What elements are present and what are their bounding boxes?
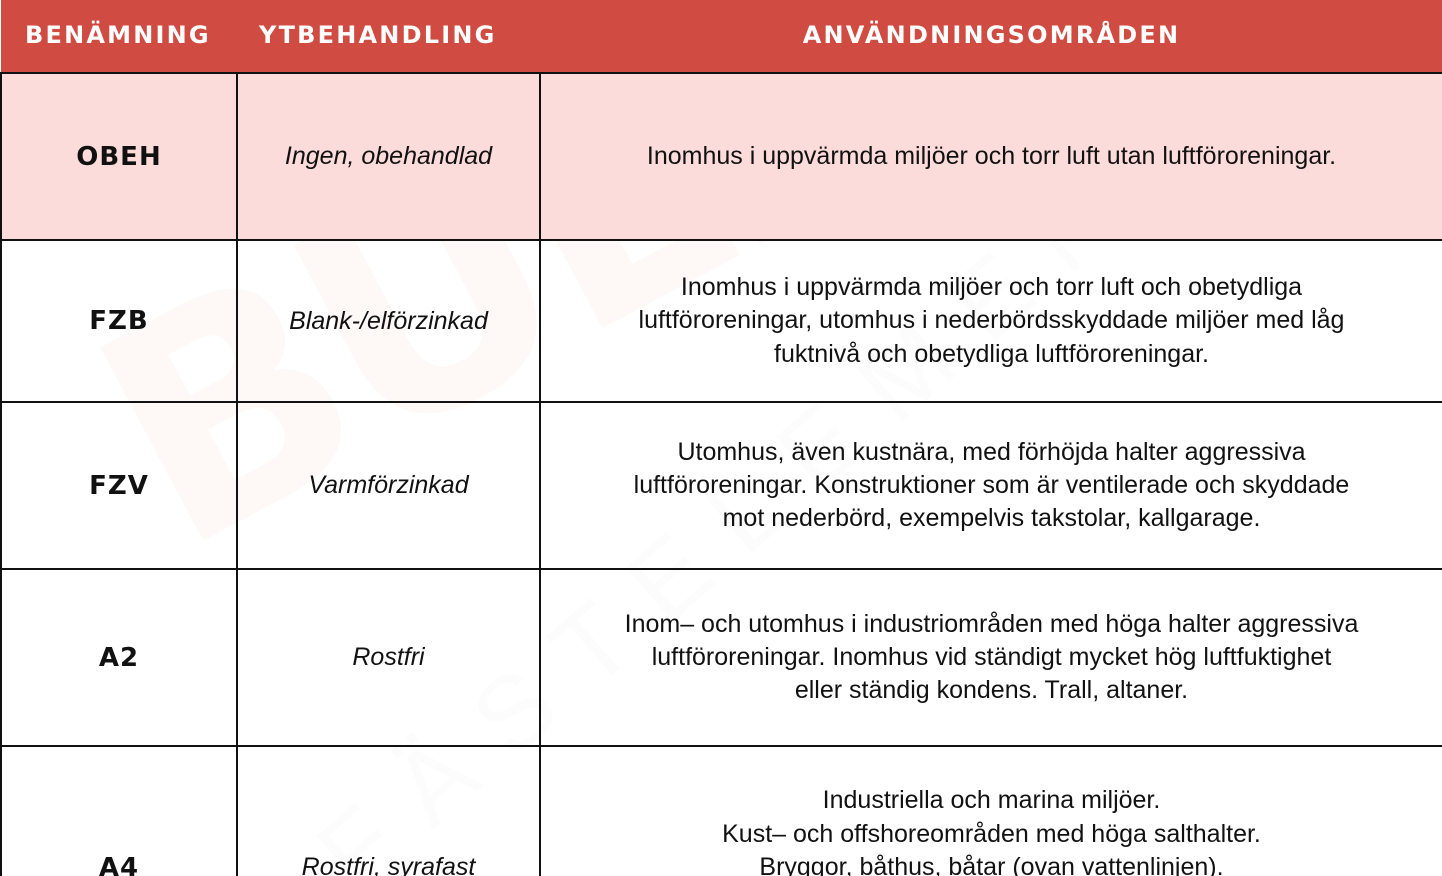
table-row: FZV Varmförzinkad Utomhus, även kustnära… [1, 402, 1442, 569]
table-row: A2 Rostfri Inom– och utomhus i industrio… [1, 569, 1442, 746]
cell-usage: Inom– och utomhus i industriområden med … [540, 569, 1442, 746]
surface-treatment-table: BENÄMNING YTBEHANDLING ANVÄNDNINGSOMRÅDE… [0, 0, 1442, 876]
usage-line: Kust– och offshoreområden med höga salth… [555, 818, 1428, 851]
cell-code: A2 [1, 569, 237, 746]
surface-treatment-table-page: BULTAB FÄSTELEMENT BENÄMNING YTBEHANDLIN… [0, 0, 1442, 876]
table-header-row: BENÄMNING YTBEHANDLING ANVÄNDNINGSOMRÅDE… [1, 0, 1442, 73]
usage-line: luftföroreningar. Inomhus vid ständigt m… [555, 641, 1428, 674]
usage-line: Inomhus i uppvärmda miljöer och torr luf… [555, 271, 1428, 304]
cell-finish: Ingen, obehandlad [237, 73, 540, 240]
column-header-anvandningsomraden: ANVÄNDNINGSOMRÅDEN [540, 0, 1442, 73]
cell-finish: Rostfri [237, 569, 540, 746]
column-header-benamning: BENÄMNING [1, 0, 237, 73]
cell-finish: Varmförzinkad [237, 402, 540, 569]
table-body: OBEH Ingen, obehandlad Inomhus i uppvärm… [1, 73, 1442, 876]
usage-line: Bryggor, båthus, båtar (ovan vattenlinje… [555, 851, 1428, 876]
usage-line: Inom– och utomhus i industriområden med … [555, 608, 1428, 641]
column-header-ytbehandling: YTBEHANDLING [237, 0, 540, 73]
usage-line: eller ständig kondens. Trall, altaner. [555, 674, 1428, 707]
cell-usage: Inomhus i uppvärmda miljöer och torr luf… [540, 240, 1442, 402]
cell-code: A4 [1, 746, 237, 876]
cell-usage: Industriella och marina miljöer. Kust– o… [540, 746, 1442, 876]
usage-line: luftföroreningar. Konstruktioner som är … [555, 469, 1428, 502]
usage-line: Utomhus, även kustnära, med förhöjda hal… [555, 436, 1428, 469]
table-row: OBEH Ingen, obehandlad Inomhus i uppvärm… [1, 73, 1442, 240]
table-header: BENÄMNING YTBEHANDLING ANVÄNDNINGSOMRÅDE… [1, 0, 1442, 73]
usage-line: fuktnivå och obetydliga luftföroreningar… [555, 338, 1428, 371]
cell-finish: Rostfri, syrafast [237, 746, 540, 876]
table-row: A4 Rostfri, syrafast Industriella och ma… [1, 746, 1442, 876]
cell-usage: Inomhus i uppvärmda miljöer och torr luf… [540, 73, 1442, 240]
cell-code: FZB [1, 240, 237, 402]
cell-code: FZV [1, 402, 237, 569]
table-row: FZB Blank-/elförzinkad Inomhus i uppvärm… [1, 240, 1442, 402]
usage-line: Industriella och marina miljöer. [555, 784, 1428, 817]
cell-usage: Utomhus, även kustnära, med förhöjda hal… [540, 402, 1442, 569]
usage-line: mot nederbörd, exempelvis takstolar, kal… [555, 502, 1428, 535]
cell-finish: Blank-/elförzinkad [237, 240, 540, 402]
cell-code: OBEH [1, 73, 237, 240]
usage-line: Inomhus i uppvärmda miljöer och torr luf… [555, 140, 1428, 173]
usage-line: luftföroreningar, utomhus i nederbördssk… [555, 304, 1428, 337]
